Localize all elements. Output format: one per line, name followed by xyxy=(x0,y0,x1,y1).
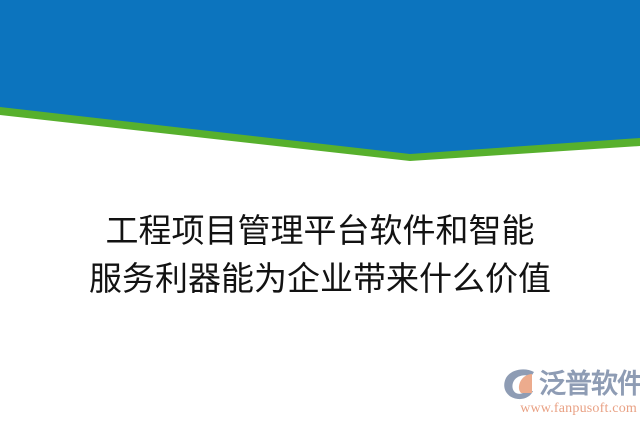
banner-blue-chevron xyxy=(0,0,640,154)
brand-logo-row: 泛普软件 xyxy=(503,366,637,402)
banner-green-band xyxy=(0,0,640,161)
brand-name: 泛普软件 xyxy=(539,369,640,399)
page-title-line-1: 工程项目管理平台软件和智能 xyxy=(0,208,640,256)
slide-canvas: 工程项目管理平台软件和智能 服务利器能为企业带来什么价值 泛普软件 www.fa… xyxy=(0,0,640,427)
brand-watermark: 泛普软件 www.fanpusoft.com xyxy=(503,366,637,422)
page-title-line-2: 服务利器能为企业带来什么价值 xyxy=(0,256,640,304)
decorative-chevron-banner xyxy=(0,0,640,170)
brand-url: www.fanpusoft.com xyxy=(503,401,637,417)
fanpu-c-leaf-logo-icon xyxy=(503,368,537,400)
page-title: 工程项目管理平台软件和智能 服务利器能为企业带来什么价值 xyxy=(0,208,640,304)
